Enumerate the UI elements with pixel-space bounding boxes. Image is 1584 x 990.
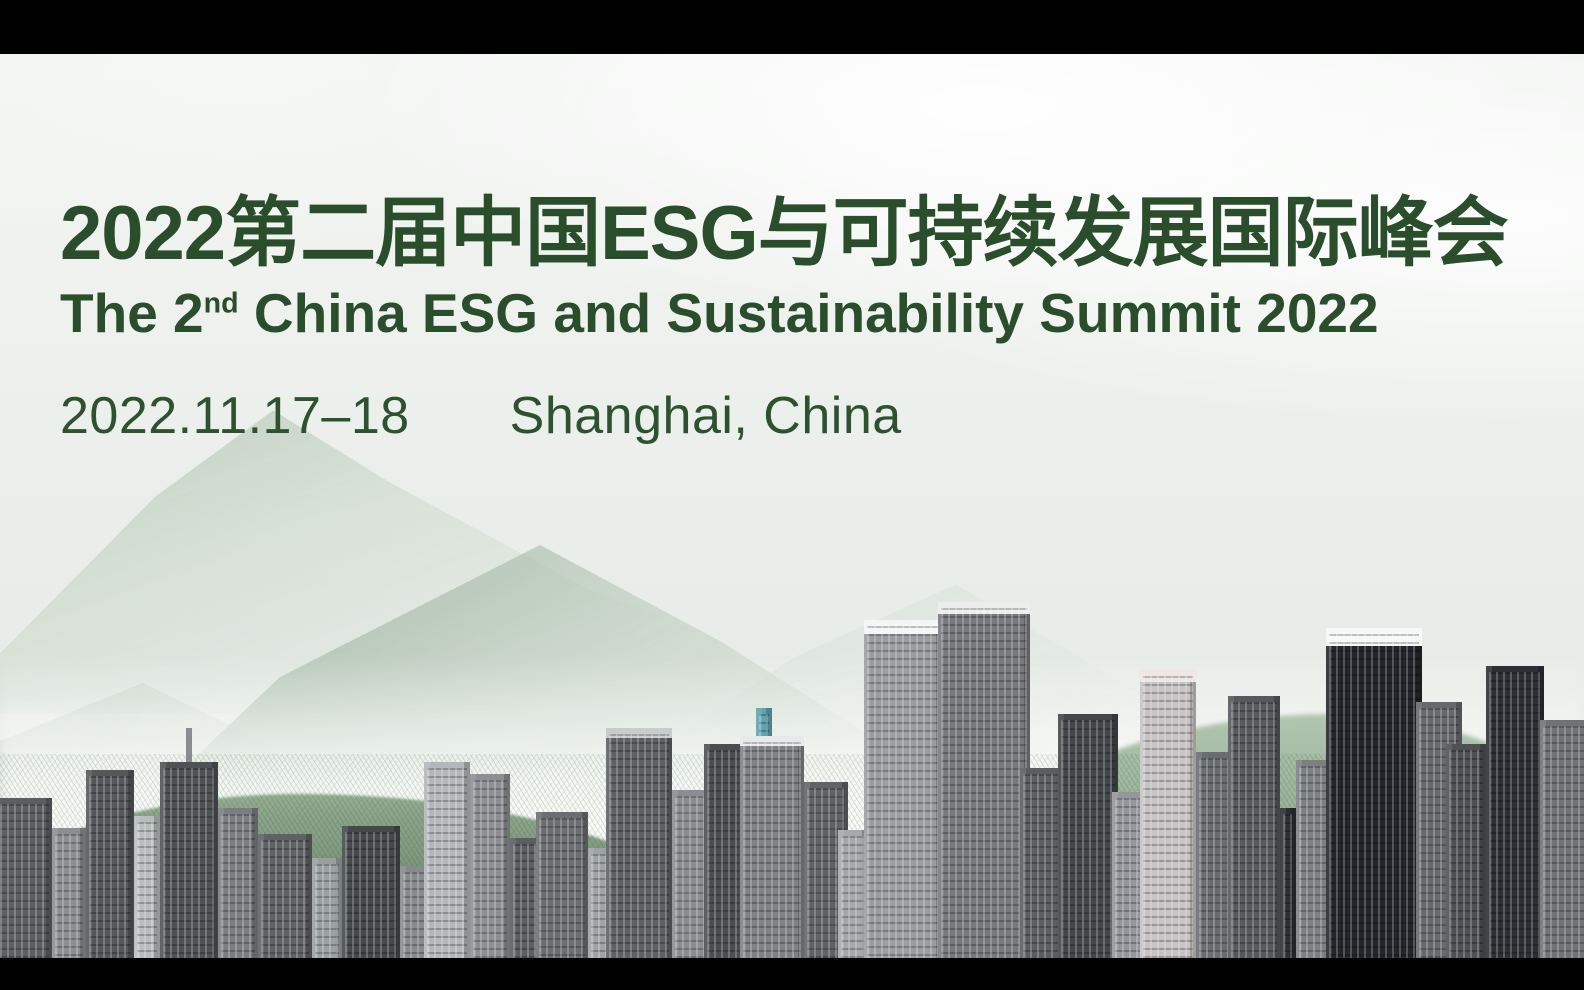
event-poster: 2022第二届中国ESG与可持续发展国际峰会 The 2nd China ESG… xyxy=(0,0,1584,990)
poster-text-block: 2022第二届中国ESG与可持续发展国际峰会 The 2nd China ESG… xyxy=(60,194,1508,446)
title-english-prefix: The 2 xyxy=(60,282,204,344)
event-location: Shanghai, China xyxy=(510,386,902,446)
event-date: 2022.11.17–18 xyxy=(60,386,410,446)
poster-artwork: 2022第二届中国ESG与可持续发展国际峰会 The 2nd China ESG… xyxy=(0,54,1584,958)
event-meta-row: 2022.11.17–18 Shanghai, China xyxy=(60,386,1508,446)
letterbox-bar-top xyxy=(0,0,1584,54)
title-english-rest: China ESG and Sustainability Summit 2022 xyxy=(239,282,1379,344)
city-skyline xyxy=(0,588,1584,958)
letterbox-bar-bottom xyxy=(0,958,1584,990)
title-chinese: 2022第二届中国ESG与可持续发展国际峰会 xyxy=(60,194,1508,275)
title-english: The 2nd China ESG and Sustainability Sum… xyxy=(60,283,1508,345)
title-english-ordinal-suffix: nd xyxy=(204,287,239,319)
